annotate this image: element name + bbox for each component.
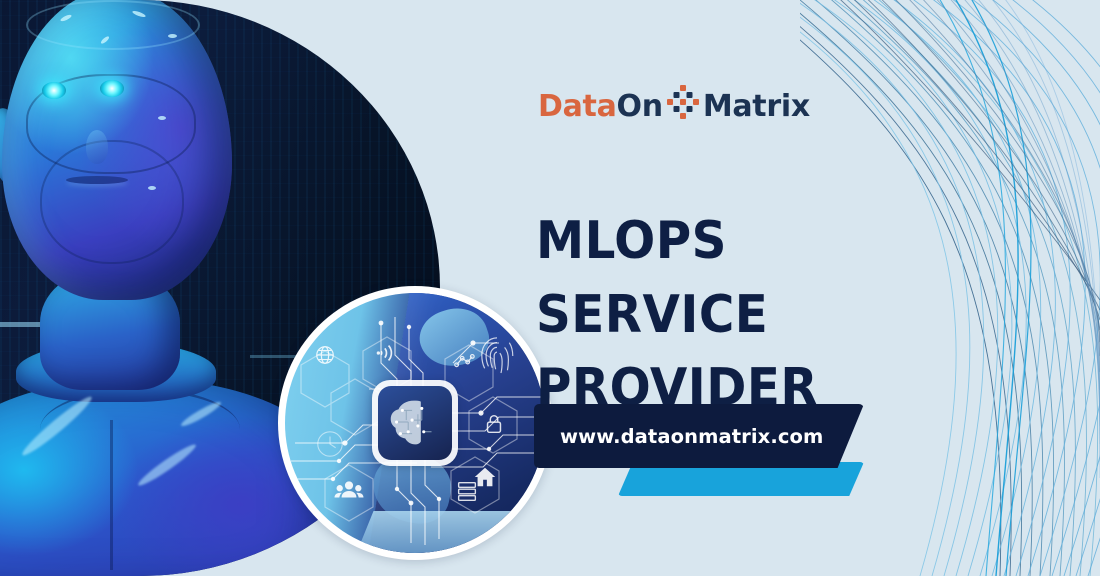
page-title: MLOPS SERVICE PROVIDER — [536, 205, 927, 426]
headline-line-1: MLOPS SERVICE — [536, 211, 768, 345]
marketing-banner: DataOn Matrix MLOPS SERVICE PROVIDER — [0, 0, 1100, 576]
logo-text-matrix: Matrix — [703, 89, 810, 124]
logo-text-data: Data — [538, 89, 617, 124]
website-url: www.dataonmatrix.com — [534, 425, 823, 448]
website-cta[interactable]: www.dataonmatrix.com — [534, 404, 894, 504]
pixel-diamond-icon — [666, 84, 700, 128]
cta-bar[interactable]: www.dataonmatrix.com — [534, 404, 864, 468]
brand-logo[interactable]: DataOn Matrix — [538, 84, 810, 128]
content-layer: DataOn Matrix MLOPS SERVICE PROVIDER — [0, 0, 1100, 576]
logo-text-on: On — [617, 89, 663, 124]
